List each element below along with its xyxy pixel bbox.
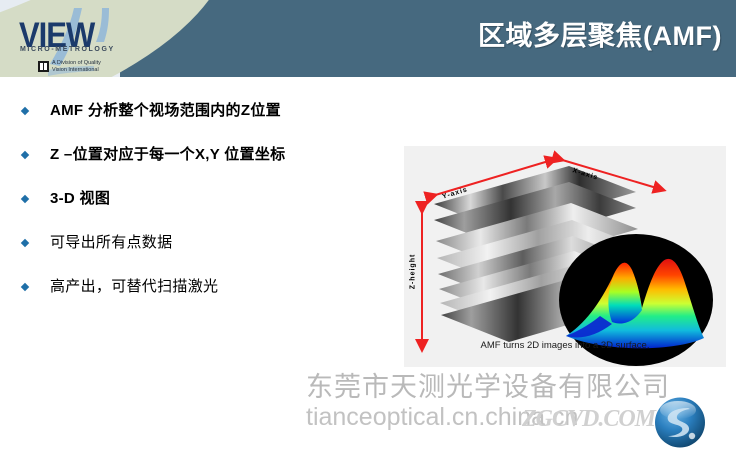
logo-tagline: MICRO-METROLOGY <box>20 46 115 53</box>
bullet-marker-icon <box>21 107 29 115</box>
globe-icon <box>652 396 708 449</box>
bullet-marker-icon <box>21 283 29 291</box>
panel-caption: AMF turns 2D images into a 3D surface. <box>404 340 726 351</box>
image-stack-diagram <box>404 146 726 367</box>
bullet-text: 3-D 视图 <box>50 188 388 209</box>
watermark-url: tianceoptical.cn.china.cn <box>306 403 670 432</box>
bullet-text: Z –位置对应于每一个X,Y 位置坐标 <box>50 144 388 165</box>
bullet-marker-icon <box>21 151 29 159</box>
list-item: 可导出所有点数据 <box>18 232 388 276</box>
bullet-text: 可导出所有点数据 <box>50 232 388 253</box>
list-item: 高产出，可替代扫描激光 <box>18 276 388 320</box>
logo-division-block: A Division of Quality Vision Internation… <box>38 60 101 73</box>
logo-division-line2: Vision International <box>52 67 101 74</box>
bullet-marker-icon <box>21 195 29 203</box>
list-item: 3-D 视图 <box>18 188 388 232</box>
list-item: AMF 分析整个视场范围内的Z位置 <box>18 100 388 144</box>
logo-division-text-block: A Division of Quality Vision Internation… <box>52 60 101 73</box>
bullet-text: AMF 分析整个视场范围内的Z位置 <box>50 100 388 121</box>
bullet-marker-icon <box>21 239 29 247</box>
bullet-list: AMF 分析整个视场范围内的Z位置 Z –位置对应于每一个X,Y 位置坐标 3-… <box>18 100 388 320</box>
bullet-text: 高产出，可替代扫描激光 <box>50 276 388 297</box>
watermark-overlay-text: ZGCVD.COM <box>522 406 655 433</box>
list-item: Z –位置对应于每一个X,Y 位置坐标 <box>18 144 388 188</box>
view-logo: VIEW MICRO-METROLOGY A Division of Quali… <box>14 8 204 78</box>
z-height-label: Z-height <box>409 254 416 290</box>
watermark: 东莞市天测光学设备有限公司 tianceoptical.cn.china.cn … <box>306 372 670 432</box>
qvi-mark-icon <box>38 61 49 72</box>
amf-illustration-panel: Y-axis X-axis Z-height AMF turns 2D imag… <box>404 146 726 367</box>
page-title: 区域多层聚焦(AMF) <box>478 14 722 53</box>
slide-canvas: 区域多层聚焦(AMF) VIEW MICRO-METROLOGY A Divis… <box>0 0 736 454</box>
logo-division-line1: A Division of Quality <box>52 60 101 67</box>
watermark-company: 东莞市天测光学设备有限公司 <box>306 372 670 403</box>
